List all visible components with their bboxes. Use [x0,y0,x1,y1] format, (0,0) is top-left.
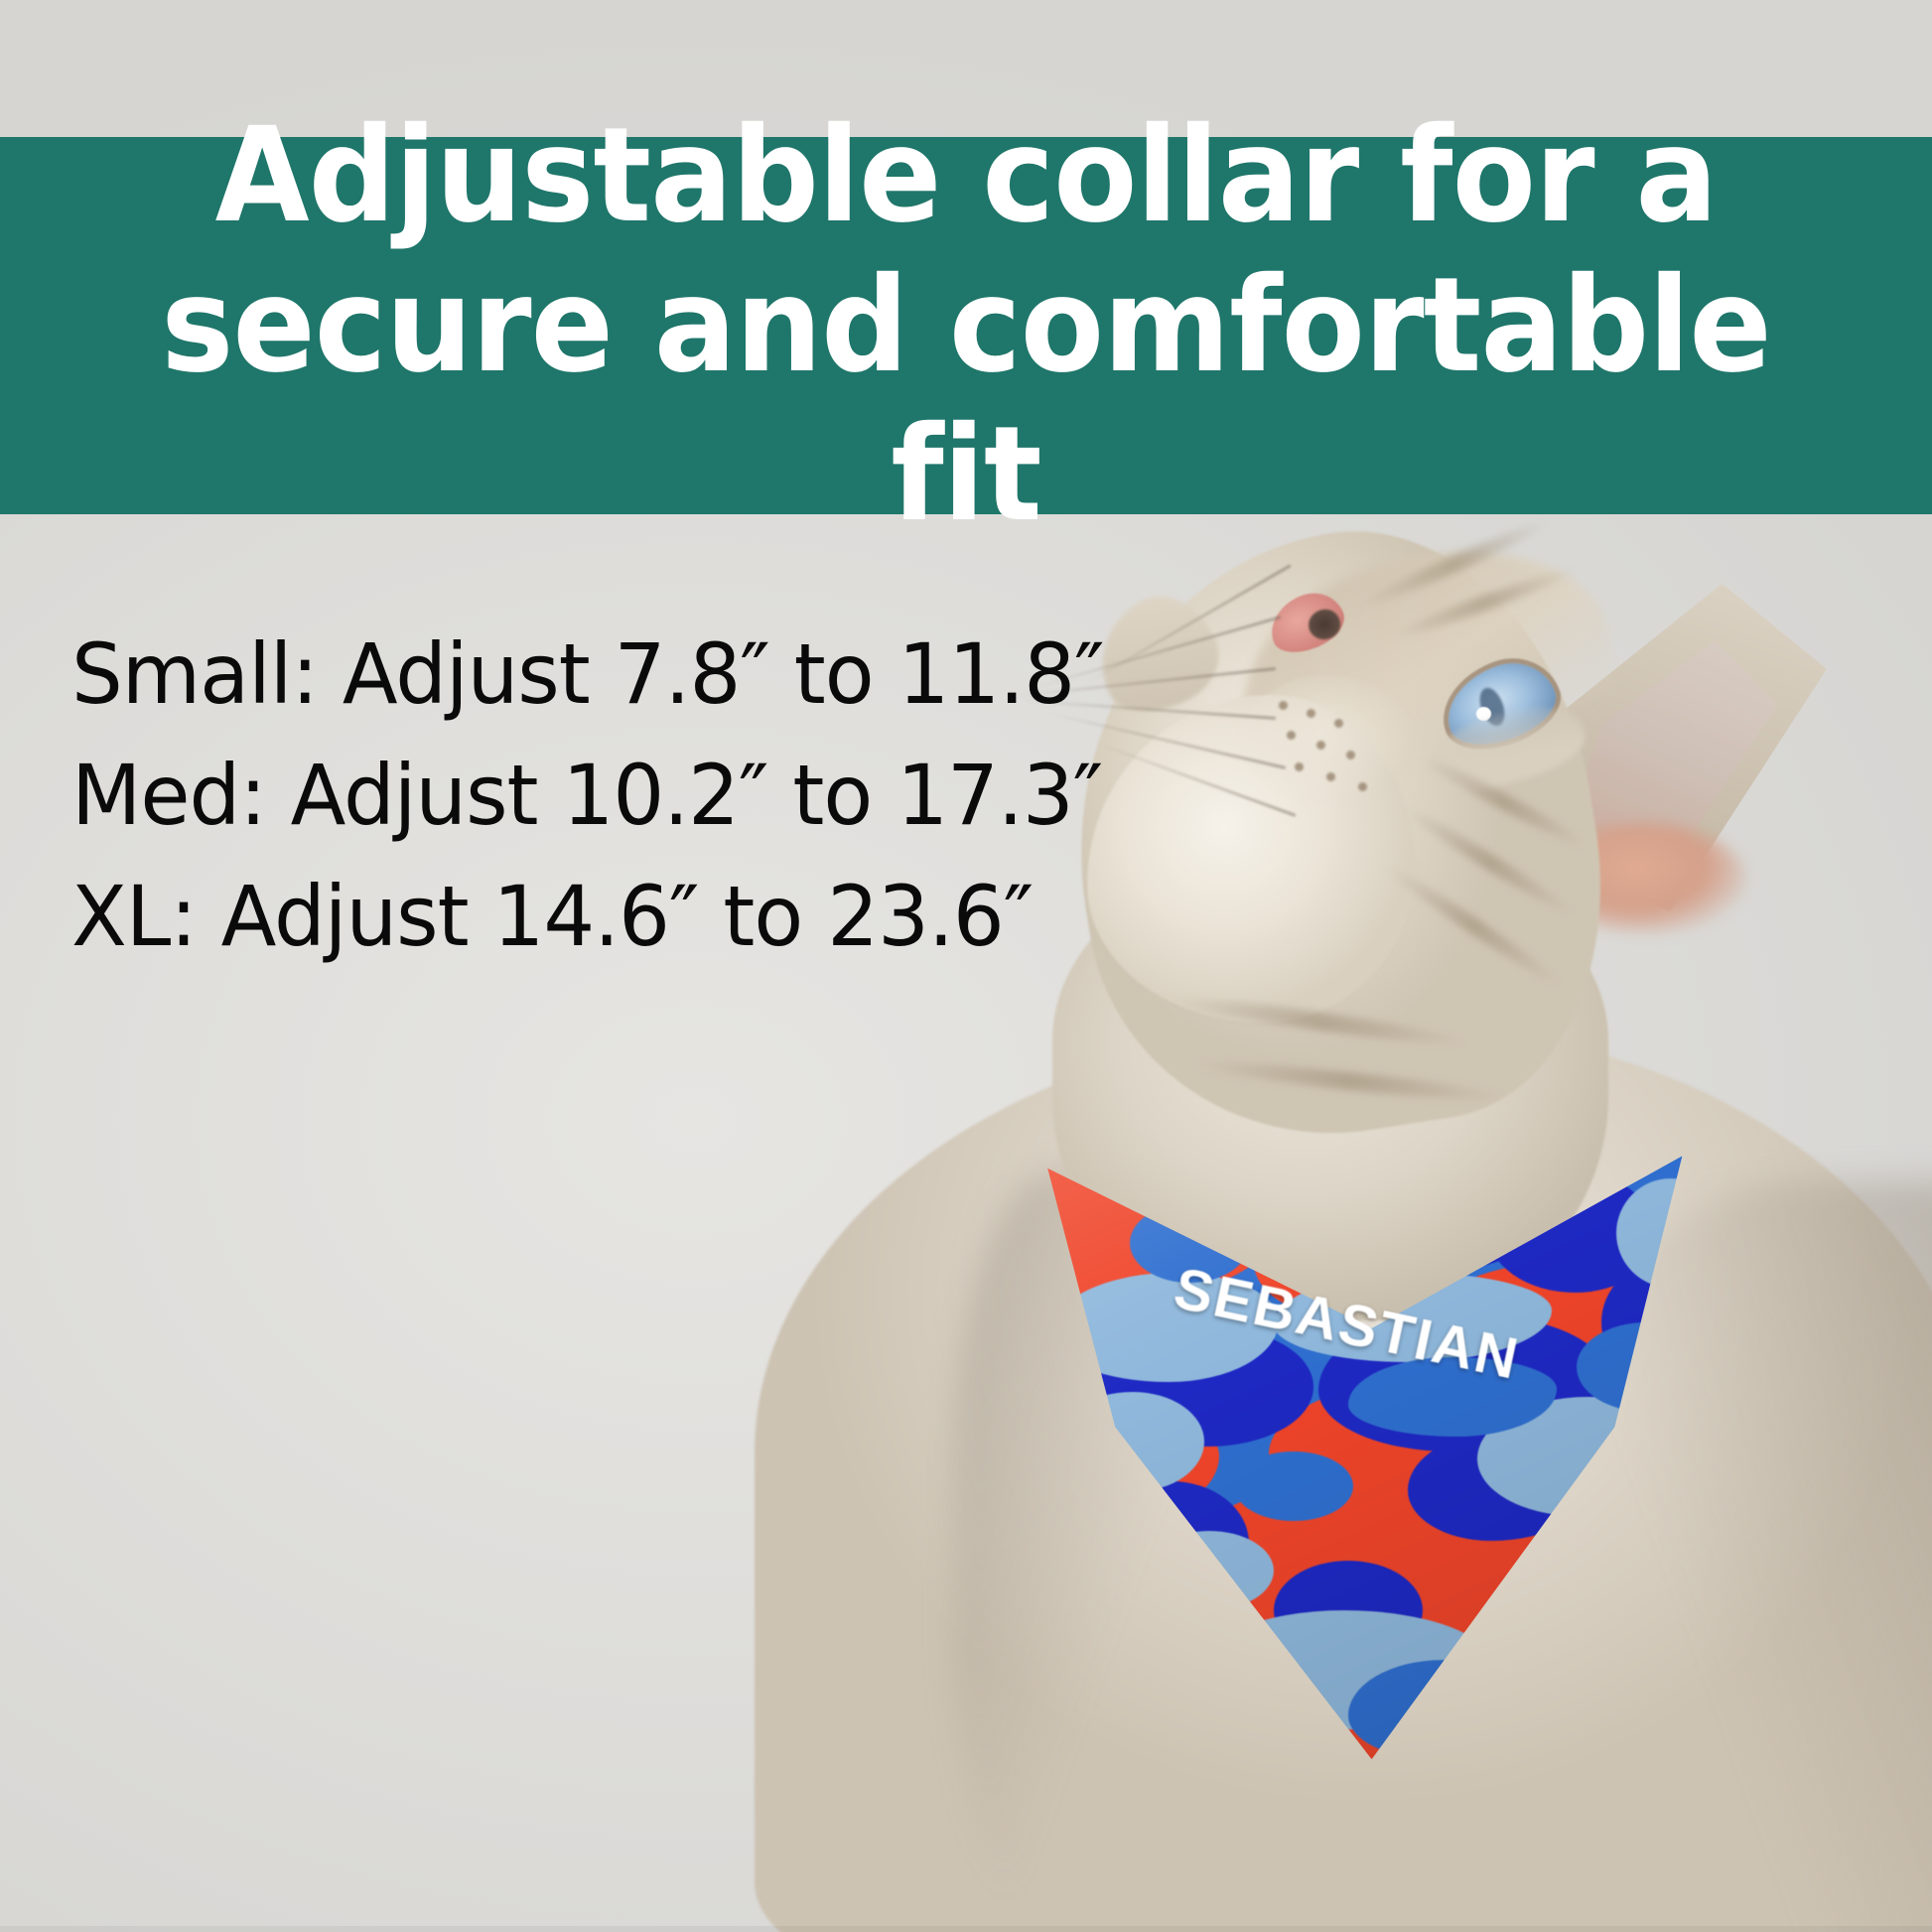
cat-whisker-pad [1241,675,1415,804]
whisker-dot [1295,762,1304,771]
whisker-dot [1334,719,1343,728]
whisker-dot [1287,731,1296,740]
whisker-dot [1316,741,1325,750]
headline: Adjustable collar for a secure and comfo… [68,101,1864,549]
whisker-dot [1307,709,1315,718]
headline-line-2: secure and comfortable fit [161,249,1770,551]
size-line-xl: XL: Adjust 14.6″ to 23.6″ [71,856,1104,977]
whisker-dot [1279,701,1288,710]
whisker-dot [1326,772,1335,781]
size-line-small: Small: Adjust 7.8″ to 11.8″ [71,614,1104,735]
whisker-dot [1358,782,1367,791]
bottom-edge [0,1926,1932,1932]
size-chart: Small: Adjust 7.8″ to 11.8″ Med: Adjust … [71,614,1136,977]
whisker-dot [1346,751,1355,759]
headline-banner: Adjustable collar for a secure and comfo… [0,137,1932,514]
headline-line-1: Adjustable collar for a [215,99,1718,252]
size-line-med: Med: Adjust 10.2″ to 17.3″ [71,735,1104,856]
product-image: SEBASTIAN Adjustable collar for a secure… [0,0,1932,1932]
